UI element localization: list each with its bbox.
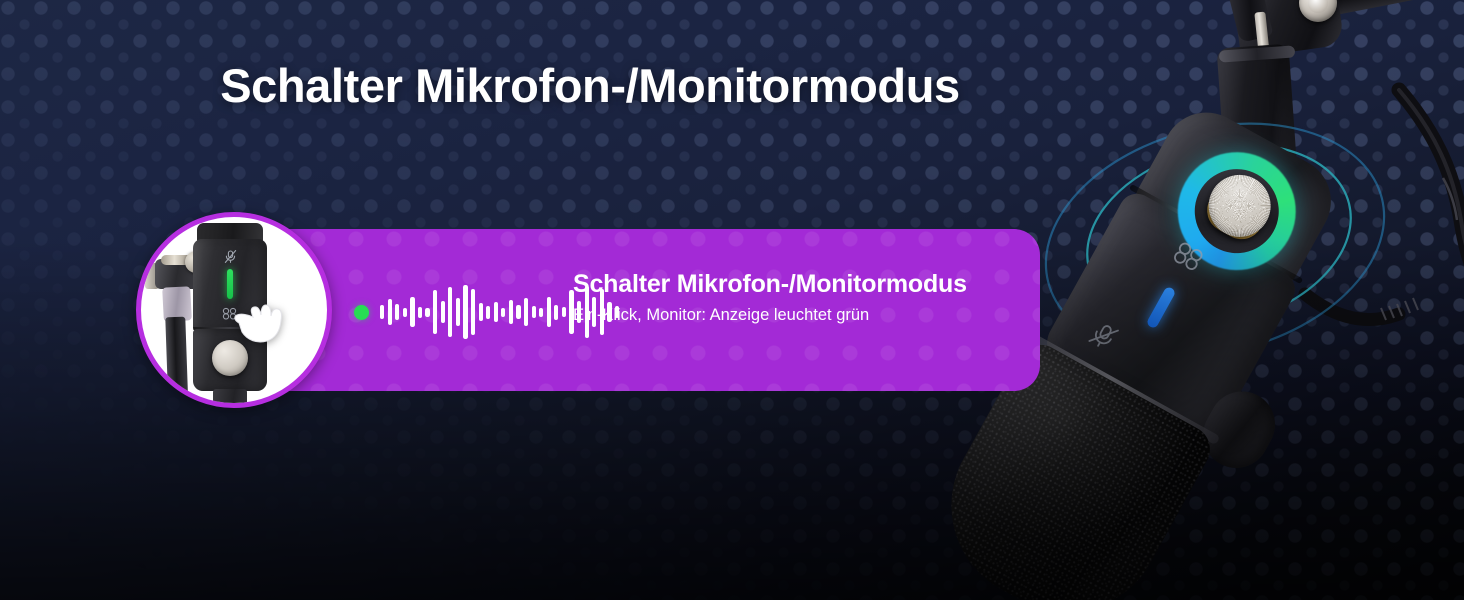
thumb-control-knob [212,340,248,376]
waveform-bar [433,290,437,334]
waveform-bar [388,299,392,325]
waveform-bar [547,297,551,327]
waveform-bar [562,307,566,317]
waveform-bar [524,298,528,326]
waveform-bar [410,297,414,327]
waveform-bar [479,303,483,321]
waveform-bar [463,285,467,339]
waveform-bar [471,289,475,335]
feature-card: Schalter Mikrofon-/Monitormodus Ein-Klic… [232,229,1040,391]
waveform-bar [509,300,513,324]
waveform-bar [403,308,407,317]
waveform-bar [395,304,399,320]
mic-muted-icon [223,249,238,264]
waveform-bar [486,306,490,319]
waveform-bar [494,302,498,322]
waveform-bar [554,305,558,320]
feature-thumbnail[interactable] [136,212,332,408]
status-indicator-dot [354,305,369,320]
hand-cursor-icon [231,297,287,345]
waveform-bar [501,308,505,317]
waveform-bar [539,308,543,317]
waveform-bar [418,307,422,318]
thumb-mic-thread [216,403,244,408]
waveform-bar [425,308,429,317]
stand-pole [165,317,188,408]
waveform-bar [441,301,445,323]
thumbnail-scene [141,217,327,403]
page-title: Schalter Mikrofon-/Monitormodus [0,58,1180,113]
product-feature-banner: Schalter Mikrofon-/Monitormodus Schalter… [0,0,1464,600]
waveform-bar [456,298,460,326]
feature-card-title: Schalter Mikrofon-/Monitormodus [573,269,1023,300]
waveform-bar [448,287,452,337]
feature-card-subtitle: Ein-Klick, Monitor: Anzeige leuchtet grü… [573,305,1023,326]
waveform-bar [380,305,384,319]
waveform-bar [532,306,536,318]
thumb-mic-neck [213,389,247,406]
waveform-bar [516,305,520,319]
feature-card-text: Schalter Mikrofon-/Monitormodus Ein-Klic… [573,269,1023,326]
status-led-green [227,269,233,299]
